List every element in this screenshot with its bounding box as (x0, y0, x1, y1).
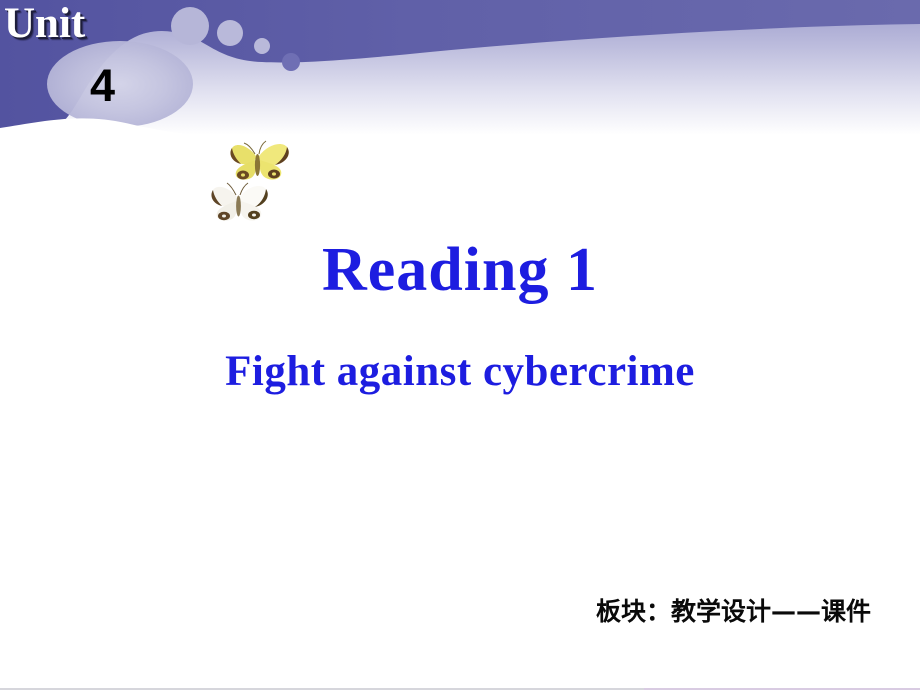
header-banner: Unit 4 (0, 0, 920, 135)
bubble-small (254, 38, 270, 54)
bubble-halo (47, 41, 193, 127)
page-subtitle: Fight against cybercrime (0, 348, 920, 395)
bubble-large (171, 7, 209, 45)
butterfly-yellow-icon (224, 138, 292, 184)
slide-canvas: Unit 4 (0, 0, 920, 690)
butterfly-white-icon (206, 181, 272, 225)
bubble-medium (217, 20, 243, 46)
footer-note: 板块：教学设计——课件 (596, 598, 871, 626)
bubble-dot (282, 53, 300, 71)
unit-number: 4 (90, 63, 115, 108)
unit-label: Unit (4, 2, 85, 45)
page-title: Reading 1 (0, 238, 920, 303)
